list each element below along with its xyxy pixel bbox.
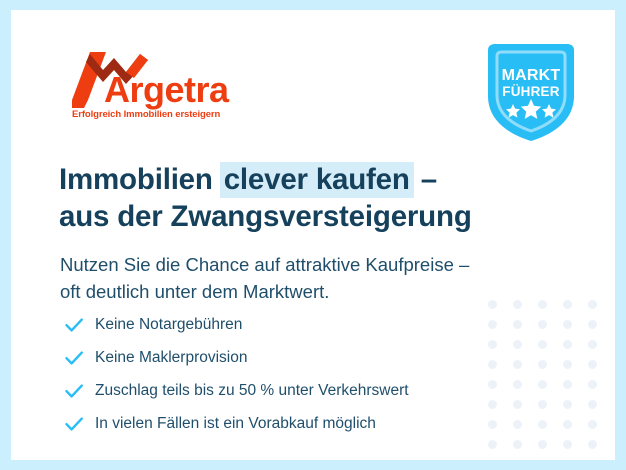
benefits-list: Keine Notargebühren Keine Maklerprovisio… xyxy=(63,308,533,440)
dot xyxy=(563,340,572,349)
dot xyxy=(588,360,597,369)
list-item-label: Zuschlag teils bis zu 50 % unter Verkehr… xyxy=(95,381,409,401)
check-icon xyxy=(63,314,85,336)
dot xyxy=(563,320,572,329)
dot xyxy=(563,400,572,409)
promo-banner: Argetra Erfolgreich Immobilien ersteiger… xyxy=(0,0,626,470)
headline-part1: Immobilien xyxy=(59,163,221,196)
list-item: Zuschlag teils bis zu 50 % unter Verkehr… xyxy=(63,374,533,407)
dot xyxy=(563,360,572,369)
dot xyxy=(538,320,547,329)
dot xyxy=(588,440,597,449)
list-item: Keine Maklerprovision xyxy=(63,341,533,374)
dot xyxy=(538,400,547,409)
page-title: Immobilien clever kaufen – aus der Zwang… xyxy=(59,161,579,235)
headline-highlight: clever kaufen xyxy=(220,162,414,198)
check-icon xyxy=(63,347,85,369)
dot xyxy=(563,420,572,429)
marktfuehrer-badge: MARKT FÜHRER xyxy=(482,38,580,146)
dot xyxy=(588,420,597,429)
headline-line2: aus der Zwangsversteigerung xyxy=(59,200,472,233)
dot xyxy=(563,440,572,449)
dot xyxy=(538,420,547,429)
subheadline-line1: Nutzen Sie die Chance auf attraktive Kau… xyxy=(60,254,469,275)
badge-line1: MARKT xyxy=(502,67,561,84)
list-item: Keine Notargebühren xyxy=(63,308,533,341)
list-item-label: In vielen Fällen ist ein Vorabkauf mögli… xyxy=(95,414,376,434)
dot xyxy=(513,440,522,449)
dot xyxy=(563,380,572,389)
dot xyxy=(538,380,547,389)
dot xyxy=(588,300,597,309)
badge-line2: FÜHRER xyxy=(502,84,559,99)
headline-part2: – xyxy=(413,163,437,196)
dot xyxy=(538,360,547,369)
dot xyxy=(588,380,597,389)
logo-tagline: Erfolgreich Immobilien ersteigern xyxy=(72,109,221,120)
logo-wordmark: Argetra xyxy=(104,69,230,110)
subheadline-line2: oft deutlich unter dem Marktwert. xyxy=(60,281,329,302)
dot xyxy=(588,320,597,329)
banner-card: Argetra Erfolgreich Immobilien ersteiger… xyxy=(11,10,615,460)
dot xyxy=(588,400,597,409)
dot xyxy=(538,340,547,349)
dot xyxy=(588,340,597,349)
dot xyxy=(488,440,497,449)
dot xyxy=(538,440,547,449)
argetra-logo[interactable]: Argetra Erfolgreich Immobilien ersteiger… xyxy=(56,48,256,120)
check-icon xyxy=(63,380,85,402)
list-item-label: Keine Notargebühren xyxy=(95,315,242,335)
list-item: In vielen Fällen ist ein Vorabkauf mögli… xyxy=(63,407,533,440)
subheadline: Nutzen Sie die Chance auf attraktive Kau… xyxy=(60,251,580,305)
list-item-label: Keine Maklerprovision xyxy=(95,348,248,368)
check-icon xyxy=(63,413,85,435)
